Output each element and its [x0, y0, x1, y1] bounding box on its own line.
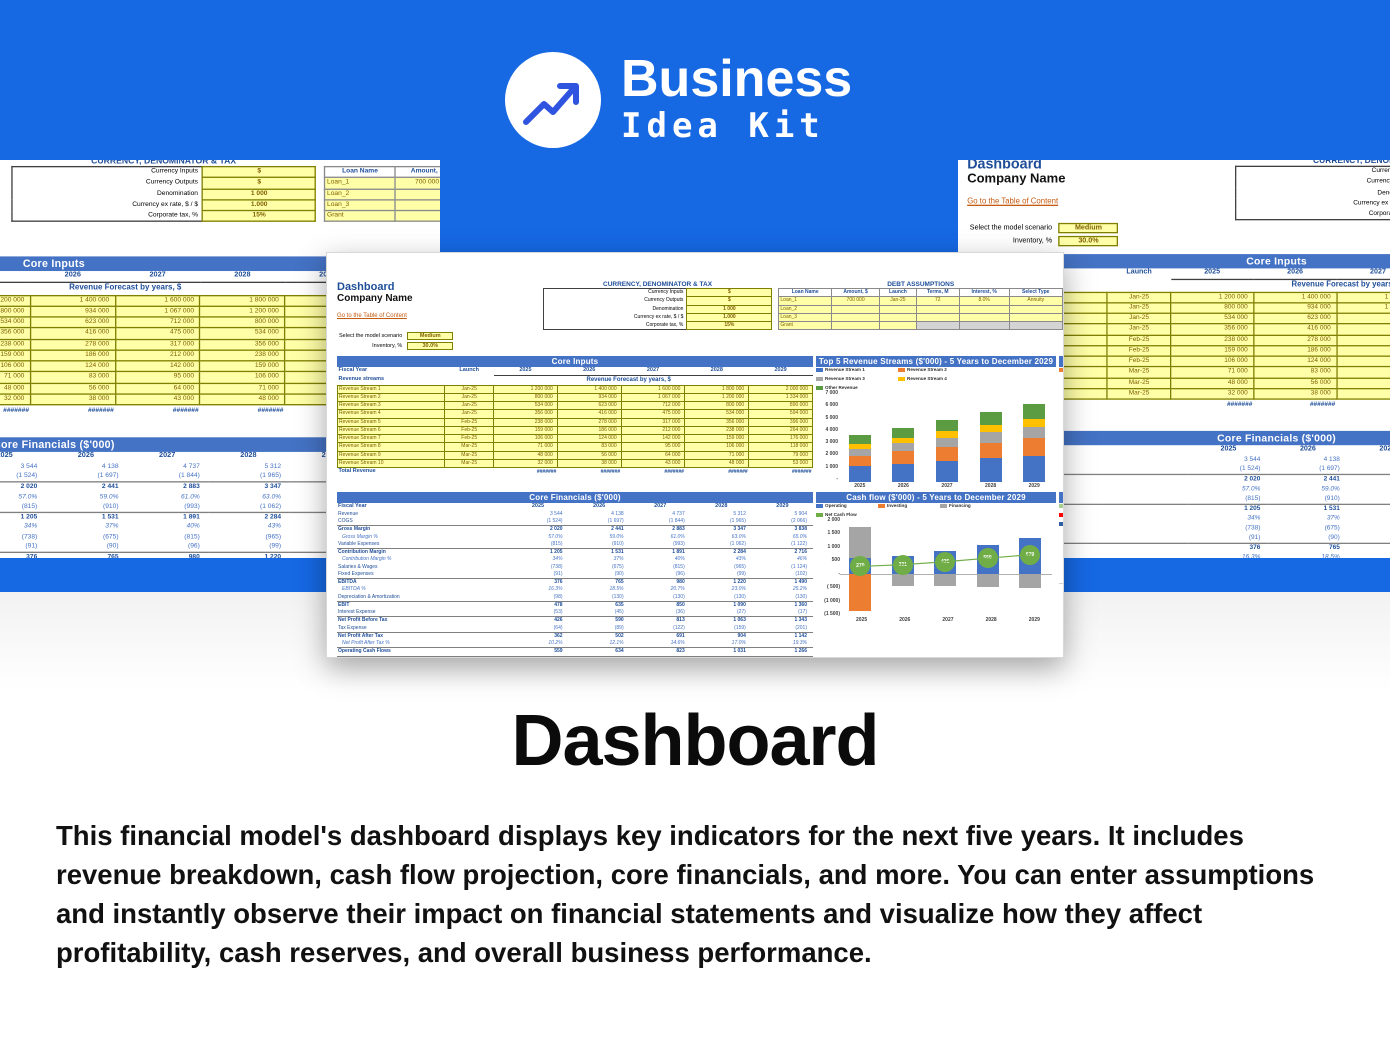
stream-value: 534 000 — [494, 402, 558, 410]
y-axis-tick: 500 — [816, 557, 840, 563]
stream-name: Revenue Stream 7 — [338, 435, 445, 443]
stream-value: 623 000 — [30, 317, 115, 328]
axis-tick-label: 2025 — [849, 483, 871, 489]
stream-value: 317 000 — [115, 339, 200, 350]
core-financials-row: Contribution Margin1 2051 5311 8912 2842… — [0, 513, 370, 523]
stream-value: 79 000 — [749, 451, 813, 459]
bar-segment — [936, 447, 958, 461]
stream-value: 356 000 — [494, 410, 558, 418]
stream-value: 475 000 — [621, 410, 685, 418]
stream-value: 32 000 — [1171, 389, 1254, 400]
page-title: Dashboard — [0, 700, 1390, 782]
revenue-stream-row: Revenue Stream 4 Jan-25356 000416 000475… — [338, 410, 813, 418]
stream-value: 212 000 — [1337, 346, 1390, 357]
debt-row: Grant — [325, 211, 440, 222]
stream-value: 1 067 000 — [621, 393, 685, 401]
cf-row-value: 1 220 — [691, 579, 752, 587]
legend-swatch — [1059, 513, 1064, 517]
bar-segment — [936, 438, 958, 447]
brand-logo: Business Idea Kit — [505, 52, 852, 148]
core-financials-row: Net Profit After Tax %10.2%12.1%14.6%17.… — [337, 640, 813, 648]
core-financials-row: Fixed Expenses(91)(90)(96)(99)(102) — [337, 571, 813, 579]
scenario-label: Select the model scenario — [970, 223, 1056, 233]
legend-item: Investing — [878, 503, 936, 508]
currency-row-label: Denomination — [12, 189, 203, 200]
currency-row: Denomination 1 000 — [543, 305, 772, 313]
currency-row-value: $ — [687, 289, 772, 297]
total-revenue-value: ####### — [621, 468, 685, 476]
cf-row-value: 3 544 — [1189, 456, 1268, 465]
currency-row-label: Currency ex rate, $ / $ — [1235, 199, 1390, 210]
stream-value: 934 000 — [557, 393, 621, 401]
cf-row-value: 635 — [569, 601, 630, 609]
cf-row-value: 362 — [507, 632, 568, 640]
company-name: Company Name — [337, 293, 537, 304]
core-financials-row: Variable Expenses(815)(910)(993)(1 062)(… — [337, 541, 813, 549]
cf-row-value: 63.0% — [208, 493, 289, 503]
bar-segment — [1023, 456, 1045, 482]
cf-row-label: COGS — [337, 518, 507, 526]
cf-row-label: Net Profit After Tax — [337, 632, 507, 640]
currency-row-value: 1 000 — [687, 305, 772, 313]
debt-cell: 8.0% — [959, 297, 1009, 305]
currency-row-value: 15% — [687, 322, 772, 330]
y-axis-tick: 2 000 — [816, 517, 840, 523]
cf-row-value: (738) — [0, 533, 45, 543]
revenue-stream-row: Revenue Stream 2 Jan-25800 000934 0001 0… — [0, 306, 370, 317]
cf-row-value: 980 — [1348, 544, 1390, 554]
cf-row-value: 1 531 — [1268, 505, 1347, 515]
stream-value: 317 000 — [1337, 335, 1390, 346]
cf-row-value: 1 891 — [630, 549, 691, 557]
bar-segment — [980, 412, 1002, 425]
cf-row-value: 25.2% — [752, 586, 813, 593]
cf-row-value: (89) — [569, 625, 630, 633]
cf-row-value: (1 122) — [752, 541, 813, 549]
bar-group — [1023, 404, 1045, 482]
stream-value: 71 000 — [685, 451, 749, 459]
legend-item: Operating Cash Receipts — [1059, 503, 1064, 508]
cf-row-value: 34% — [1189, 515, 1268, 524]
debt-row: Loan_3 — [779, 313, 1063, 321]
core-financials-row: EBITDA3767659801 2201 490 — [337, 579, 813, 587]
stream-launch: Jan-25 — [445, 385, 494, 393]
forecast-title: Revenue Forecast by years, $ — [1107, 279, 1390, 292]
cf-row-value: 1 585 — [691, 656, 752, 658]
cf-row-value: (90) — [569, 571, 630, 579]
cf-row-value: 37% — [569, 556, 630, 563]
cf-row-value: (965) — [208, 533, 289, 543]
cf-row-label: Interest Expense — [337, 609, 507, 617]
revenue-stream-row: Revenue Stream 6 Feb-25159 000186 000212… — [338, 426, 813, 434]
cf-row-value: 1 343 — [752, 617, 813, 625]
stream-launch: Mar-25 — [445, 443, 494, 451]
cf-row-value: (815) — [630, 564, 691, 571]
cf-row-label: Contribution Margin — [337, 549, 507, 557]
cf-row-value: 376 — [0, 553, 45, 558]
bar-segment — [849, 456, 871, 467]
cf-row-label: Net Profit Before Tax — [337, 617, 507, 625]
stream-launch: Jan-25 — [1107, 292, 1170, 303]
stream-value: 71 000 — [494, 443, 558, 451]
cf-row-value: (1 524) — [507, 518, 568, 526]
cf-row-value: (53) — [507, 609, 568, 617]
currency-row: Currency ex rate, $ / $ 1.000 — [1235, 199, 1390, 210]
cf-row-value: (993) — [1348, 495, 1390, 505]
cf-row-value: 59.0% — [569, 534, 630, 541]
cf-row-value: (910) — [569, 541, 630, 549]
cf-row-value: 2 883 — [127, 482, 208, 492]
legend-item: Operating — [816, 503, 874, 508]
y-axis-tick: 3 000 — [816, 439, 838, 445]
cf-year-header: 2028 — [208, 452, 289, 463]
cf-row-value: 980 — [630, 579, 691, 587]
total-revenue-label: Total Revenue — [338, 468, 445, 476]
currency-row-label: Corporate tax, % — [12, 211, 203, 222]
debt-cell — [1009, 313, 1062, 321]
cf-row-value: (1 062) — [208, 502, 289, 512]
inventory-label: Inventory, % — [339, 342, 405, 350]
debt-row: Loan_1700 000Jan-25728.0%Annuity — [779, 297, 1063, 305]
stream-value: 95 000 — [1337, 367, 1390, 378]
stream-value: 2 000 000 — [749, 385, 813, 393]
cf-row-value: (91) — [507, 571, 568, 579]
cf-row-value: 46% — [752, 556, 813, 563]
revenue-stream-row: Revenue Stream 2 Jan-25800 000934 0001 0… — [338, 393, 813, 401]
year-header: 2027 — [1337, 268, 1390, 279]
legend-item: Financing — [940, 503, 998, 508]
cf-row-value: 2 284 — [208, 513, 289, 523]
cf-row-value: (815) — [0, 502, 45, 512]
bar-segment — [1023, 438, 1045, 456]
debt-row: Loan_2 — [779, 305, 1063, 313]
total-revenue-value: ####### — [200, 405, 285, 416]
revenue-stream-row: Revenue Stream 1 Jan-251 200 0001 400 00… — [338, 385, 813, 393]
stream-value: 278 000 — [557, 418, 621, 426]
stream-value: 83 000 — [30, 372, 115, 383]
launch-label: Launch — [445, 367, 494, 375]
y-axis-tick: - — [816, 571, 840, 577]
cf-row-value: 2 883 — [1348, 475, 1390, 485]
cf-row-value: (1 844) — [127, 472, 208, 482]
revenue-stream-row: Revenue Stream 9 Mar-2548 00056 00064 00… — [338, 451, 813, 459]
cf-row-value: (17) — [752, 609, 813, 617]
stream-value: 475 000 — [115, 328, 200, 339]
stream-value: 71 000 — [0, 372, 30, 383]
stream-launch: Feb-25 — [1107, 346, 1170, 357]
cf-row-value: (1 697) — [45, 472, 126, 482]
currency-row-label: Corporate tax, % — [543, 322, 687, 330]
scenario-select: Medium — [407, 332, 453, 340]
stream-value: 48 000 — [200, 394, 285, 405]
debt-cell — [395, 189, 440, 200]
cf-row-value: (675) — [569, 564, 630, 571]
scenario-select: Medium — [1059, 223, 1119, 233]
cf-row-value: 270 — [507, 656, 568, 658]
y-axis-tick: 1 000 — [816, 464, 838, 470]
axis-tick-label: 2027 — [936, 483, 958, 489]
cf-row-value: 813 — [630, 617, 691, 625]
cf-row-value: 1 266 — [752, 648, 813, 656]
core-financials-row: Contribution Margin1 2051 5311 8912 2842… — [337, 549, 813, 557]
debt-cell — [831, 313, 879, 321]
stream-value: 623 000 — [557, 402, 621, 410]
chart-legend: Operating Investing Financing Net Cash F… — [816, 503, 1056, 517]
core-financials-row: Contribution Margin %34%37%40%43%46% — [337, 556, 813, 563]
cf-row-value: (993) — [127, 502, 208, 512]
cf-row-value: (45) — [569, 609, 630, 617]
stream-value: 64 000 — [115, 383, 200, 394]
cf-row-value: 10.2% — [507, 640, 568, 648]
brand-name-line1: Business — [621, 53, 852, 105]
stream-value: 934 000 — [30, 306, 115, 317]
cf-row-label: Cash — [337, 656, 507, 658]
bar-segment — [892, 464, 914, 482]
stream-launch: Jan-25 — [1107, 303, 1170, 314]
cf-row-value: 850 — [630, 601, 691, 609]
cf-row-value: (910) — [1268, 495, 1347, 505]
cf-row-label: Tax Expense — [337, 625, 507, 633]
stream-value: 106 000 — [200, 372, 285, 383]
debt-cell: Grant — [325, 211, 395, 222]
stream-launch: Mar-25 — [445, 451, 494, 459]
stream-value: 238 000 — [494, 418, 558, 426]
axis-tick-label: 2029 — [1024, 617, 1045, 623]
stream-launch: Jan-25 — [1107, 313, 1170, 324]
total-revenue-value: ####### — [115, 405, 200, 416]
cf-row-value: 40% — [1348, 515, 1390, 524]
currency-row: Currency Outputs $ — [1235, 177, 1390, 188]
currency-row: Currency Inputs $ — [543, 289, 772, 297]
bar-group — [936, 420, 958, 482]
cf-row-value: 40% — [127, 523, 208, 533]
stream-value: 356 000 — [1171, 324, 1254, 335]
stream-name: Revenue Stream 4 — [338, 410, 445, 418]
stream-value: 238 000 — [1171, 335, 1254, 346]
stream-value: 56 000 — [30, 383, 115, 394]
axis-tick-label: 2029 — [1023, 483, 1045, 489]
company-name: Company Name — [0, 173, 3, 188]
cf-row-value: 4 138 — [569, 511, 630, 518]
profitability-chart-title: Profitability ($'000) - 5 Years to Decem… — [1059, 356, 1064, 367]
core-financials-bar: Core Financials ($'000) — [0, 437, 370, 452]
cf-row-value: 43% — [208, 523, 289, 533]
cf-row-value: (1 844) — [1348, 465, 1390, 475]
cf-row-value: (1 524) — [0, 472, 45, 482]
cf-row-value: 376 — [1189, 544, 1268, 554]
total-revenue-value: ####### — [0, 405, 30, 416]
axis-tick-label: 2028 — [981, 617, 1002, 623]
currency-row-label: Currency Outputs — [1235, 177, 1390, 188]
debt-cell — [916, 322, 959, 330]
core-financials-row: EBIT4786358501 0901 360 — [337, 601, 813, 609]
stream-value: 1 400 000 — [557, 385, 621, 393]
year-header: 2028 — [685, 367, 749, 375]
stream-value: 32 000 — [494, 459, 558, 467]
cf-row-value: (122) — [630, 625, 691, 633]
cf-row-value: 65.0% — [752, 534, 813, 541]
y-axis-tick: 2 000 — [816, 451, 838, 457]
currency-row: Currency Outputs $ — [543, 297, 772, 305]
legend-swatch — [940, 504, 947, 508]
stream-value: 800 000 — [0, 306, 30, 317]
currency-row-label: Currency Outputs — [543, 297, 687, 305]
year-header: 2025 — [1171, 268, 1254, 279]
stream-value: 890 000 — [749, 402, 813, 410]
dashboard-screenshot-main: Dashboard Company Name Go to the Table o… — [326, 252, 1064, 658]
y-axis-tick: ( 500) — [816, 584, 840, 590]
cf-row-value: 765 — [569, 579, 630, 587]
growth-arrow-icon — [505, 52, 601, 148]
core-financials-row: Variable Expenses(815)(910)(993)(1 062)(… — [0, 502, 370, 512]
legend-item: Revenue Stream 3 — [816, 376, 894, 381]
cf-row-label: Variable Expenses — [337, 541, 507, 549]
axis-tick-label: 2028 — [980, 483, 1002, 489]
stream-value: 106 000 — [685, 443, 749, 451]
cf-row-value: (1 965) — [208, 472, 289, 482]
cf-row-value: (1 124) — [752, 564, 813, 571]
stream-launch: Feb-25 — [445, 426, 494, 434]
stream-value: 64 000 — [621, 451, 685, 459]
cf-row-value: (102) — [752, 571, 813, 579]
core-financials-row: Cash2706011 0361 5852 265 — [337, 656, 813, 658]
total-revenue-value: ####### — [1254, 399, 1337, 410]
stream-launch: Jan-25 — [1107, 324, 1170, 335]
core-financials-row: Net Profit After Tax3625026919041 142 — [337, 632, 813, 640]
stream-value: 38 000 — [1254, 389, 1337, 400]
legend-item: Revenue Stream 4 — [898, 376, 976, 381]
core-financials-row: Depreciation & Amortization(98)(130)(130… — [337, 594, 813, 602]
cf-row-value: (1 697) — [1268, 465, 1347, 475]
cf-year-header: 2027 — [127, 452, 208, 463]
stream-launch: Feb-25 — [1107, 335, 1170, 346]
cf-row-value: 5 312 — [691, 511, 752, 518]
stream-value: 95 000 — [115, 372, 200, 383]
debt-cell — [916, 305, 959, 313]
cf-row-value: (910) — [45, 502, 126, 512]
cf-row-value: (99) — [691, 571, 752, 579]
stream-launch: Feb-25 — [445, 435, 494, 443]
stream-value: 106 000 — [0, 361, 30, 372]
cashflow-chart-title: Cash flow ($'000) - 5 Years to December … — [816, 492, 1056, 503]
stream-value: 71 000 — [200, 383, 285, 394]
stream-value: 38 000 — [30, 394, 115, 405]
currency-row-label: Currency Inputs — [12, 167, 203, 178]
stream-value: 48 000 — [1171, 378, 1254, 389]
cf-row-value: (130) — [569, 594, 630, 602]
chart-legend: Revenue EBITDA EBITDA % — [1059, 367, 1064, 372]
stream-value: 106 000 — [494, 435, 558, 443]
debt-cell — [395, 211, 440, 222]
debt-row: Loan_1700 000Jan-25728.0%Annuity — [325, 178, 440, 189]
cf-row-value: (815) — [127, 533, 208, 543]
cf-row-value: 23.0% — [691, 586, 752, 593]
stream-value: 712 000 — [1337, 313, 1390, 324]
legend-item: Investing — [1059, 512, 1064, 517]
cf-row-value: 765 — [45, 553, 126, 558]
revenue-stream-row: Revenue Stream 6 Feb-25159 000186 000212… — [0, 350, 370, 361]
legend-item: Revenue Stream 1 — [816, 367, 894, 372]
stream-value: 56 000 — [1254, 378, 1337, 389]
bar-segment — [980, 458, 1002, 482]
stream-value: 43 000 — [621, 459, 685, 467]
stream-value: 118 000 — [749, 443, 813, 451]
cf-row-value: 1 036 — [630, 656, 691, 658]
core-financials-row: Contribution Margin %34%37%40%43%46% — [0, 523, 370, 533]
revenue-stream-row: Revenue Stream 3 Jan-25534 000623 000712… — [0, 317, 370, 328]
cf-row-value: (2 066) — [752, 518, 813, 526]
revenue-streams-label: Revenue streams — [338, 375, 445, 385]
stream-value: 238 000 — [0, 339, 30, 350]
cf-row-label: Revenue — [337, 511, 507, 518]
fiscal-year-label: Fiscal Year — [338, 367, 445, 375]
total-revenue-value: ####### — [30, 405, 115, 416]
stream-name: Revenue Stream 8 — [338, 443, 445, 451]
year-header: 2029 — [749, 367, 813, 375]
cf-row-value: 18.5% — [569, 586, 630, 593]
stream-name: Revenue Stream 1 — [338, 385, 445, 393]
cf-row-value: 1 142 — [752, 632, 813, 640]
stream-value: 71 000 — [1171, 367, 1254, 378]
cf-row-value: 40% — [630, 556, 691, 563]
debt-cell — [959, 305, 1009, 313]
cf-row-label: Gross Margin — [337, 526, 507, 534]
cf-row-value: 3 544 — [507, 511, 568, 518]
cf-row-value: (98) — [507, 594, 568, 602]
cf-row-value: 2 020 — [507, 526, 568, 534]
cf-row-value: 634 — [569, 648, 630, 656]
core-financials-row: Gross Margin %57.0%59.0%61.0%63.0%65.0% — [337, 534, 813, 541]
debt-cell: Loan_3 — [325, 200, 395, 211]
dashboard-title: Dashboard — [0, 160, 3, 173]
debt-cell — [959, 313, 1009, 321]
bar-segment — [1023, 427, 1045, 439]
bar-segment — [849, 466, 871, 482]
legend-swatch — [878, 504, 885, 508]
stream-value: 1 200 000 — [685, 393, 749, 401]
cf-row-value: 1 205 — [0, 513, 45, 523]
cf-row-value: 1 090 — [691, 601, 752, 609]
currency-row-value: 1 000 — [203, 189, 316, 200]
debt-cell: 700 000 — [395, 178, 440, 189]
stream-value: 800 000 — [200, 317, 285, 328]
cf-row-label: Net Profit After Tax % — [337, 640, 507, 648]
bar-group — [849, 435, 871, 482]
stream-value: 95 000 — [621, 443, 685, 451]
total-revenue-value: ####### — [749, 468, 813, 476]
toc-link: Go to the Table of Content — [337, 313, 407, 319]
stream-value: 1 200 000 — [494, 385, 558, 393]
stream-value: 356 000 — [0, 328, 30, 339]
stream-value: 142 000 — [115, 361, 200, 372]
cf-year-header: 2025 — [507, 503, 568, 511]
cf-row-value: (130) — [691, 594, 752, 602]
stream-value: 264 000 — [749, 426, 813, 434]
top5-chart-title: Top 5 Revenue Streams ($'000) - 5 Years … — [816, 356, 1056, 367]
cf-row-value: 559 — [507, 648, 568, 656]
y-axis-tick: 1 000 — [816, 544, 840, 550]
debt-cell — [880, 313, 916, 321]
chart-legend: Operating Cash Receipts Operating Cash P… — [1059, 503, 1064, 526]
cf-row-value: (675) — [45, 533, 126, 543]
revenue-stream-row: Revenue Stream 10 Mar-2532 00038 00043 0… — [338, 459, 813, 467]
cf-row-value: 61.0% — [127, 493, 208, 503]
cf-row-value: 376 — [507, 579, 568, 587]
cumulative-chart-title: Cumulative CashFlow ($'000) - 5 Years to… — [1059, 492, 1064, 503]
toc-link: Go to the Table of Content — [967, 198, 1058, 206]
axis-tick-label: 2025 — [851, 617, 872, 623]
debt-cell — [831, 305, 879, 313]
